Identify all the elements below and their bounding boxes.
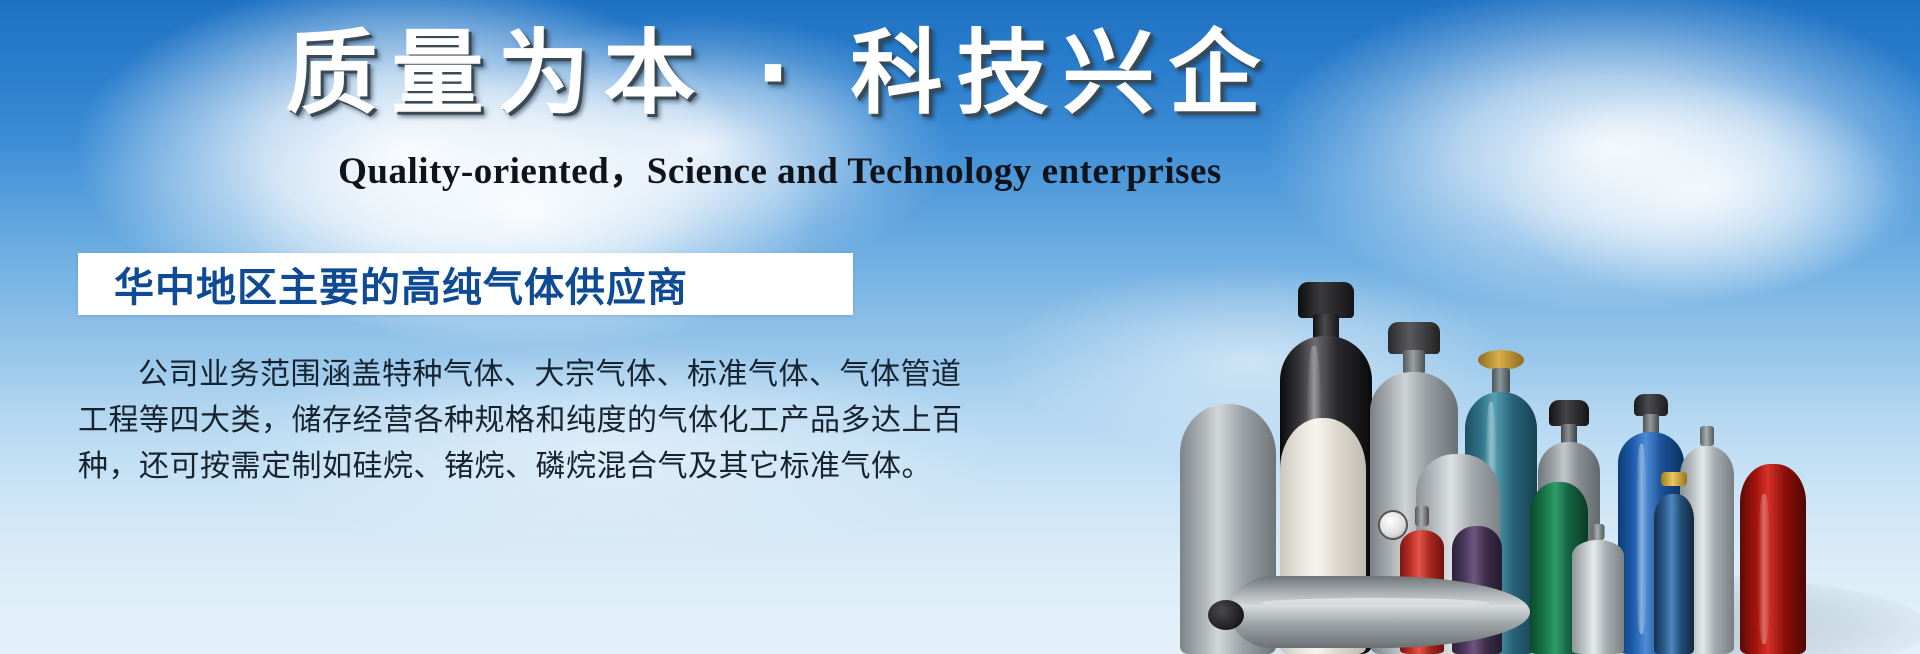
aluminium-cylinder-small bbox=[1572, 524, 1624, 654]
dark-red-cylinder bbox=[1740, 464, 1806, 654]
description-line-2: 工程等四大类，储存经营各种规格和纯度的气体化工产品多达上百 bbox=[78, 398, 868, 444]
black-cylinder-guard bbox=[1298, 282, 1354, 318]
aluminium-cylinder-small-body bbox=[1572, 540, 1624, 654]
teal-cylinder-neck bbox=[1492, 368, 1510, 394]
highlight-banner-text: 华中地区主要的高纯气体供应商 bbox=[78, 255, 688, 313]
grey-cylinder-neck bbox=[1403, 350, 1425, 374]
highlight-banner: 华中地区主要的高纯气体供应商 bbox=[78, 253, 853, 315]
pressure-gauge bbox=[1378, 510, 1408, 540]
aluminium-cylinder-neck bbox=[1700, 426, 1714, 446]
yellow-top-cylinder-knob bbox=[1661, 472, 1687, 486]
red-cap-cylinder-neck bbox=[1415, 506, 1429, 526]
yellow-top-cylinder-body bbox=[1654, 494, 1694, 654]
description-line-3: 种，还可按需定制如硅烷、锗烷、磷烷混合气及其它标准气体。 bbox=[78, 444, 868, 490]
gas-cylinder-group bbox=[1220, 134, 1920, 654]
lying-cylinder-valve bbox=[1208, 600, 1244, 630]
page-title-cn: 质量为本 · 科技兴企 bbox=[0, 22, 1560, 125]
hero-banner: 质量为本 · 科技兴企 Quality-oriented，Science and… bbox=[0, 0, 1920, 654]
description-line-1: 公司业务范围涵盖特种气体、大宗气体、标准气体、气体管道 bbox=[78, 352, 868, 398]
dark-red-cylinder-body bbox=[1740, 464, 1806, 654]
blue-cylinder-cap bbox=[1634, 394, 1668, 416]
yellow-top-cylinder bbox=[1654, 476, 1694, 654]
aluminium-cylinder-small-neck bbox=[1592, 524, 1605, 540]
dark-valve-cylinder-cap bbox=[1549, 400, 1589, 426]
page-subtitle-en: Quality-oriented，Science and Technology … bbox=[0, 140, 1560, 194]
lying-cylinder-highlight bbox=[1260, 598, 1490, 608]
lying-cylinder bbox=[1230, 576, 1530, 648]
teal-cylinder-valve-wheel bbox=[1478, 350, 1524, 370]
description-paragraph: 公司业务范围涵盖特种气体、大宗气体、标准气体、气体管道 工程等四大类，储存经营各… bbox=[78, 352, 868, 490]
